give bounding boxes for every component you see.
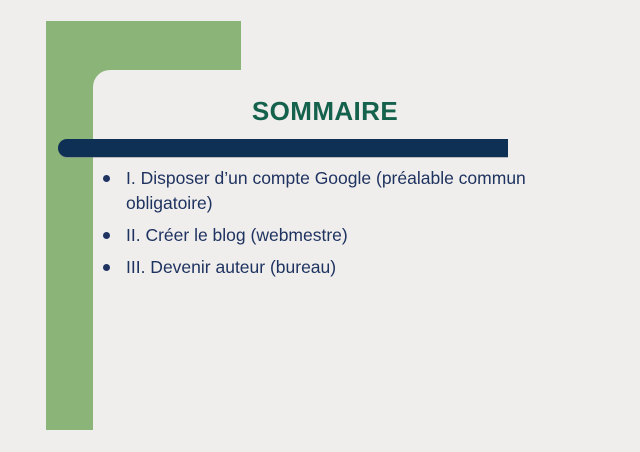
list-item: III. Devenir auteur (bureau) <box>100 255 552 280</box>
list-item-label: II. Créer le blog (webmestre) <box>126 223 552 248</box>
bullet-dot-icon <box>103 264 110 271</box>
list-item: II. Créer le blog (webmestre) <box>100 223 552 248</box>
list-item-label: I. Disposer d’un compte Google (préalabl… <box>126 166 552 216</box>
title-underline-bar <box>58 139 508 157</box>
green-inner-corner <box>84 61 110 87</box>
bullet-dot-icon <box>103 232 110 239</box>
presentation-slide: SOMMAIRE I. Disposer d’un compte Google … <box>0 0 640 452</box>
green-horizontal-arm <box>93 21 241 70</box>
summary-bullet-list: I. Disposer d’un compte Google (préalabl… <box>100 166 552 287</box>
bullet-dot-icon <box>103 175 110 182</box>
list-item-label: III. Devenir auteur (bureau) <box>126 255 552 280</box>
list-item: I. Disposer d’un compte Google (préalabl… <box>100 166 552 216</box>
green-vertical-bar <box>46 21 93 430</box>
slide-title: SOMMAIRE <box>130 96 520 126</box>
